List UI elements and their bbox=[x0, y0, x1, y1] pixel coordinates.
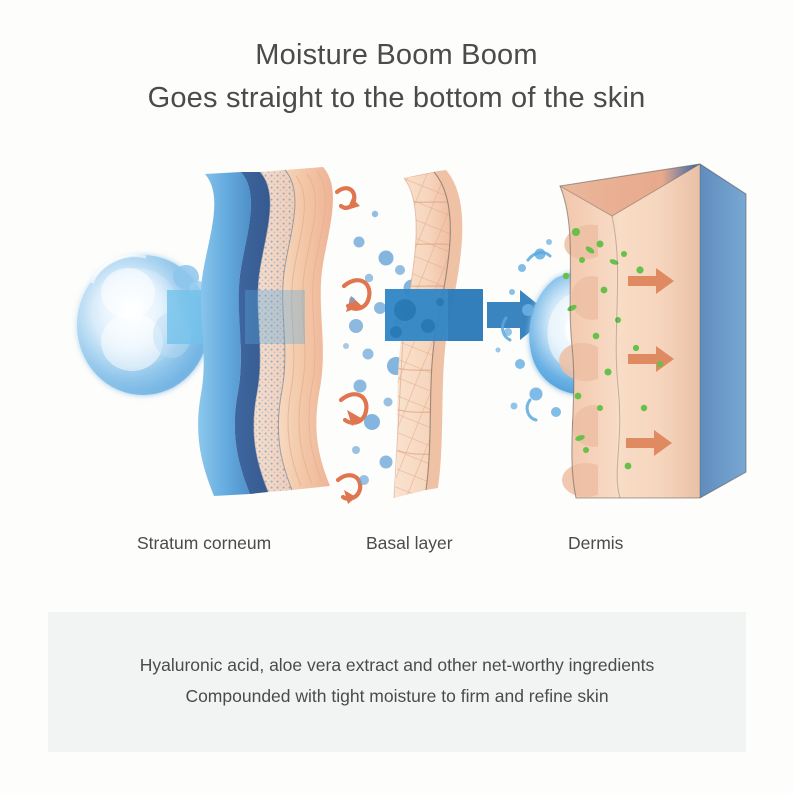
caption-line-2: Compounded with tight moisture to firm a… bbox=[48, 681, 746, 712]
orange-curl-arrows bbox=[337, 188, 369, 504]
moisture-band-overlap bbox=[245, 290, 305, 344]
title-line-2: Goes straight to the bottom of the skin bbox=[0, 78, 793, 118]
dermis-3d-block bbox=[557, 164, 746, 508]
label-basal-layer: Basal layer bbox=[366, 533, 453, 554]
product-infographic-page: Moisture Boom Boom Goes straight to the … bbox=[0, 0, 793, 793]
label-stratum-corneum: Stratum corneum bbox=[137, 533, 271, 554]
page-title: Moisture Boom Boom Goes straight to the … bbox=[0, 36, 793, 118]
skin-penetration-diagram bbox=[0, 150, 793, 530]
caption-panel: Hyaluronic acid, aloe vera extract and o… bbox=[48, 612, 746, 752]
caption-line-1: Hyaluronic acid, aloe vera extract and o… bbox=[48, 650, 746, 681]
label-dermis: Dermis bbox=[568, 533, 623, 554]
title-line-1: Moisture Boom Boom bbox=[0, 36, 793, 74]
caption-text-block: Hyaluronic acid, aloe vera extract and o… bbox=[48, 650, 746, 712]
layer-label-row: Stratum corneum Basal layer Dermis bbox=[0, 533, 793, 563]
